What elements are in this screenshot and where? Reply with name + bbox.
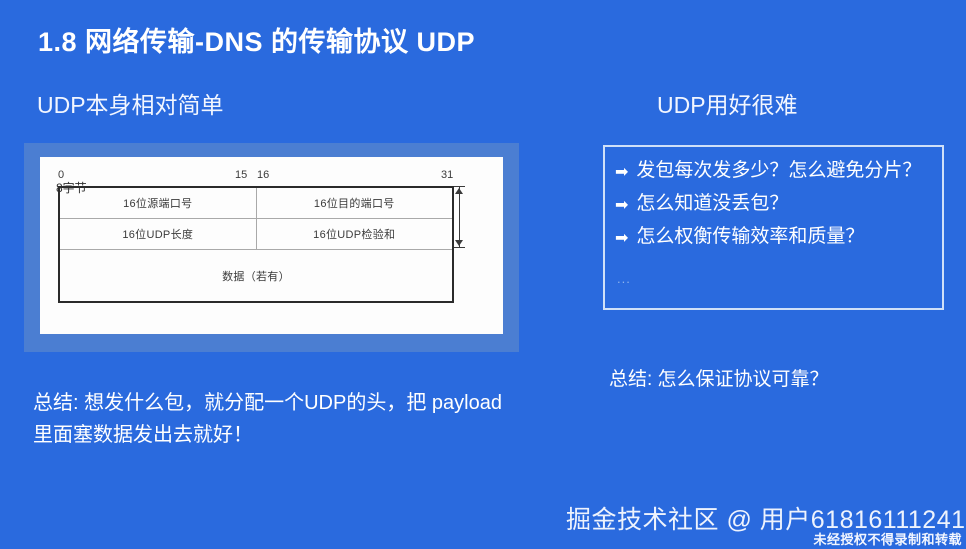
- field-source-port: 16位源端口号: [59, 187, 256, 219]
- brace-arrow-down-icon: [455, 240, 463, 246]
- table-row: 16位源端口号 16位目的端口号: [59, 187, 453, 219]
- field-payload-data: 数据（若有）: [59, 250, 453, 303]
- bit-position-ruler: 0 15 16 31: [58, 169, 473, 186]
- udp-header-table: 16位源端口号 16位目的端口号 16位UDP长度 16位UDP检验和 数据（若…: [58, 186, 454, 303]
- brace-arrow-up-icon: [455, 188, 463, 194]
- brace-cap-bottom: [454, 247, 465, 248]
- diagram-sheet: 0 15 16 31 16位源端口号 16位目的端口号 16位UDP长度 16位…: [40, 157, 503, 334]
- question-text: 怎么权衡传输效率和质量？: [636, 227, 864, 247]
- field-destination-port: 16位目的端口号: [256, 187, 453, 219]
- bit-tick-16: 16: [257, 169, 269, 181]
- list-item: ➡ 怎么权衡传输效率和质量？: [615, 227, 942, 247]
- arrow-bullet-icon: ➡: [615, 198, 628, 214]
- right-column-subtitle: UDP用好很难: [657, 86, 798, 120]
- udp-packet-diagram: 0 15 16 31 16位源端口号 16位目的端口号 16位UDP长度 16位…: [24, 143, 519, 352]
- question-text: 发包每次发多少？怎么避免分片？: [636, 161, 921, 181]
- question-text: 怎么知道没丢包？: [636, 194, 788, 214]
- questions-ellipsis: ...: [617, 271, 631, 286]
- header-size-label: 8字节: [56, 179, 87, 196]
- right-column-summary: 总结: 怎么保证协议可靠？: [609, 364, 829, 391]
- left-column-subtitle: UDP本身相对简单: [37, 86, 224, 120]
- open-questions-box: ➡ 发包每次发多少？怎么避免分片？ ➡ 怎么知道没丢包？ ➡ 怎么权衡传输效率和…: [603, 145, 944, 310]
- header-size-brace-icon: [452, 186, 494, 248]
- arrow-bullet-icon: ➡: [615, 165, 628, 181]
- brace-line: [459, 186, 460, 248]
- page-title: 1.8 网络传输-DNS 的传输协议 UDP: [38, 20, 475, 59]
- table-row: 数据（若有）: [59, 250, 453, 303]
- bit-tick-15: 15: [235, 169, 247, 181]
- field-udp-length: 16位UDP长度: [59, 219, 256, 250]
- watermark: 掘金技术社区 @ 用户618161112415 未经授权不得录制和转载: [566, 500, 966, 549]
- left-column-summary: 总结: 想发什么包，就分配一个UDP的头，把 payload里面塞数据发出去就好…: [33, 387, 503, 451]
- watermark-sub-text: 未经授权不得录制和转载: [813, 529, 962, 548]
- field-udp-checksum: 16位UDP检验和: [256, 219, 453, 250]
- bit-tick-31: 31: [441, 169, 453, 181]
- presentation-slide: 1.8 网络传输-DNS 的传输协议 UDP UDP本身相对简单 UDP用好很难…: [0, 0, 966, 549]
- list-item: ➡ 怎么知道没丢包？: [615, 194, 942, 214]
- arrow-bullet-icon: ➡: [615, 231, 628, 247]
- list-item: ➡ 发包每次发多少？怎么避免分片？: [615, 161, 942, 181]
- table-row: 16位UDP长度 16位UDP检验和: [59, 219, 453, 250]
